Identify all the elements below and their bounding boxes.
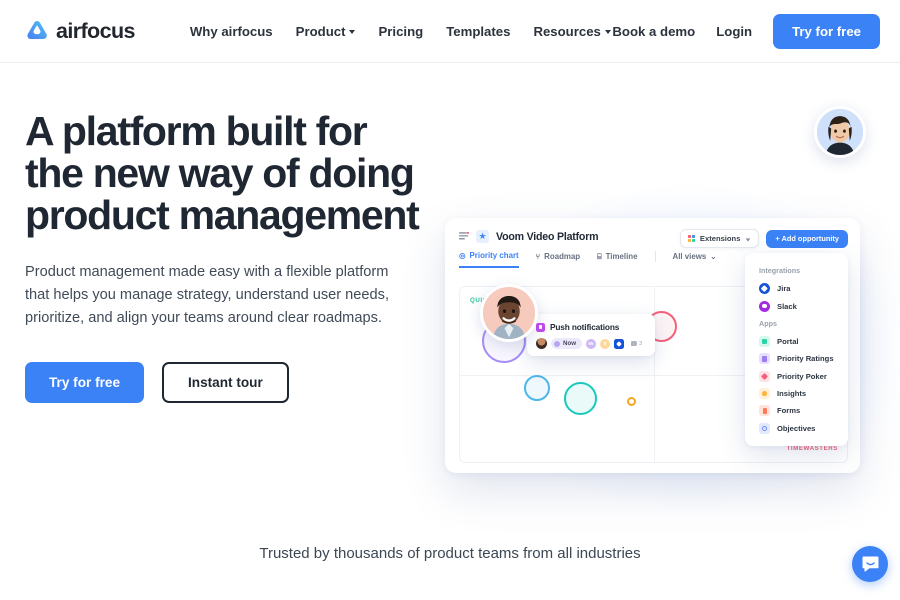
dropdown-item-label: Slack <box>777 302 797 311</box>
chevron-down-icon: ⌄ <box>710 253 716 261</box>
page-title: A platform built for the new way of doin… <box>25 110 425 236</box>
all-views-label: All views <box>673 252 707 261</box>
dropdown-item-label: Priority Poker <box>777 372 827 381</box>
status-label: Now <box>563 340 576 347</box>
comment-count-label: 3 <box>639 341 642 347</box>
extensions-button[interactable]: Extensions <box>680 229 760 248</box>
hamburger-icon[interactable] <box>459 232 469 240</box>
grid-icon <box>688 235 695 242</box>
tab-divider <box>655 251 656 262</box>
dropdown-item-label: Insights <box>777 389 806 398</box>
tab-priority-chart[interactable]: ◎ Priority chart <box>459 251 519 268</box>
brand-name: airfocus <box>56 19 135 44</box>
trusted-text: Trusted by thousands of product teams fr… <box>0 545 900 562</box>
tab-timeline[interactable]: ⌸ Timeline <box>597 252 637 267</box>
score-badge-a: 65 <box>586 339 596 349</box>
nav-link-label: Templates <box>446 24 510 39</box>
hero-actions: Try for free Instant tour <box>25 362 425 403</box>
avatar-team-member-2 <box>480 284 538 342</box>
all-views-dropdown[interactable]: All views ⌄ <box>673 252 717 267</box>
hero-section: A platform built for the new way of doin… <box>0 63 900 600</box>
top-navbar: airfocus Why airfocus Product Pricing Te… <box>0 0 900 63</box>
dropdown-item-label: Objectives <box>777 424 815 433</box>
nav-link-why-airfocus[interactable]: Why airfocus <box>190 24 273 39</box>
chevron-down-icon <box>349 30 355 34</box>
nav-link-product[interactable]: Product <box>296 24 356 39</box>
try-for-free-nav-button[interactable]: Try for free <box>773 14 880 49</box>
avatar <box>483 287 535 339</box>
login-link[interactable]: Login <box>716 24 752 39</box>
status-dot-icon <box>554 341 560 347</box>
card-title: Push notifications <box>550 322 619 332</box>
status-badge[interactable]: Now <box>551 338 582 349</box>
try-for-free-hero-button[interactable]: Try for free <box>25 362 144 403</box>
nav-link-label: Pricing <box>378 24 423 39</box>
jira-icon <box>759 283 770 294</box>
airfocus-triangle-logo-icon <box>25 19 49 43</box>
card-meta: Now 65 8 3 <box>536 338 646 349</box>
dropdown-item-label: Forms <box>777 406 800 415</box>
nav-link-templates[interactable]: Templates <box>446 24 510 39</box>
dropdown-item-slack[interactable]: Slack <box>745 297 848 314</box>
mockup-title: Voom Video Platform <box>496 231 598 243</box>
avatar <box>536 338 547 349</box>
dropdown-item-priority-poker[interactable]: Priority Poker <box>745 368 848 385</box>
objectives-icon <box>759 423 770 434</box>
poker-icon <box>759 371 770 382</box>
dropdown-item-label: Priority Ratings <box>777 354 834 363</box>
nav-link-label: Resources <box>533 24 600 39</box>
star-icon[interactable]: ★ <box>476 230 489 243</box>
target-icon: ◎ <box>459 252 466 260</box>
roadmap-icon: ⑂ <box>536 253 541 261</box>
dropdown-item-objectives[interactable]: Objectives <box>745 420 848 437</box>
dropdown-item-insights[interactable]: Insights <box>745 385 848 402</box>
timeline-icon: ⌸ <box>597 253 602 261</box>
nav-link-resources[interactable]: Resources <box>533 24 610 39</box>
chevron-down-icon <box>746 238 751 241</box>
dropdown-item-label: Portal <box>777 337 799 346</box>
nav-links: Why airfocus Product Pricing Templates R… <box>190 24 611 39</box>
avatar <box>817 109 863 155</box>
chart-bubble-amber[interactable] <box>627 397 636 406</box>
dropdown-item-priority-ratings[interactable]: Priority Ratings <box>745 350 848 367</box>
intercom-chat-icon <box>861 555 880 574</box>
nav-link-label: Why airfocus <box>190 24 273 39</box>
slack-icon <box>759 301 770 312</box>
dropdown-header-apps: Apps <box>745 315 848 333</box>
comment-count: 3 <box>631 341 642 347</box>
tab-label: Priority chart <box>470 251 519 260</box>
intercom-chat-button[interactable] <box>852 546 888 582</box>
dropdown-item-forms[interactable]: Forms <box>745 402 848 419</box>
card-type-icon <box>536 323 545 332</box>
extensions-dropdown: Integrations Jira Slack Apps Portal <box>745 253 848 446</box>
hero-copy: A platform built for the new way of doin… <box>25 110 425 403</box>
avatar-team-member-1 <box>814 106 866 158</box>
extensions-label: Extensions <box>700 234 741 243</box>
score-badge-b: 8 <box>600 339 610 349</box>
nav-link-pricing[interactable]: Pricing <box>378 24 423 39</box>
dropdown-item-jira[interactable]: Jira <box>745 280 848 297</box>
hero-subtitle: Product management made easy with a flex… <box>25 261 410 330</box>
book-a-demo-link[interactable]: Book a demo <box>612 24 695 39</box>
quadrant-label-timewasters: TIMEWASTERS <box>787 445 838 452</box>
product-mockup: ★ Voom Video Platform ◎ Priority chart ⑂… <box>445 218 860 473</box>
chart-bubble-teal[interactable] <box>564 382 597 415</box>
nav-link-label: Product <box>296 24 346 39</box>
insights-icon <box>759 388 770 399</box>
tab-label: Timeline <box>606 252 638 261</box>
nav-actions: Book a demo Login Try for free <box>612 14 880 49</box>
portal-icon <box>759 336 770 347</box>
jira-icon <box>614 339 624 349</box>
dropdown-item-label: Jira <box>777 284 791 293</box>
chart-bubble-blue[interactable] <box>524 375 550 401</box>
dropdown-item-portal[interactable]: Portal <box>745 333 848 350</box>
chevron-down-icon <box>605 30 611 34</box>
forms-icon <box>759 405 770 416</box>
instant-tour-button[interactable]: Instant tour <box>162 362 289 403</box>
opportunity-card[interactable]: Push notifications Now 65 8 3 <box>527 314 655 356</box>
comment-icon <box>631 341 637 346</box>
tab-label: Roadmap <box>544 252 580 261</box>
tab-roadmap[interactable]: ⑂ Roadmap <box>536 252 580 267</box>
mockup-tabs: ◎ Priority chart ⑂ Roadmap ⌸ Timeline Al… <box>459 251 717 268</box>
brand-logo[interactable]: airfocus <box>25 19 135 44</box>
mockup-header-actions: Extensions + Add opportunity <box>680 229 848 248</box>
ratings-icon <box>759 353 770 364</box>
add-opportunity-button[interactable]: + Add opportunity <box>766 230 848 248</box>
dropdown-header-integrations: Integrations <box>745 262 848 280</box>
